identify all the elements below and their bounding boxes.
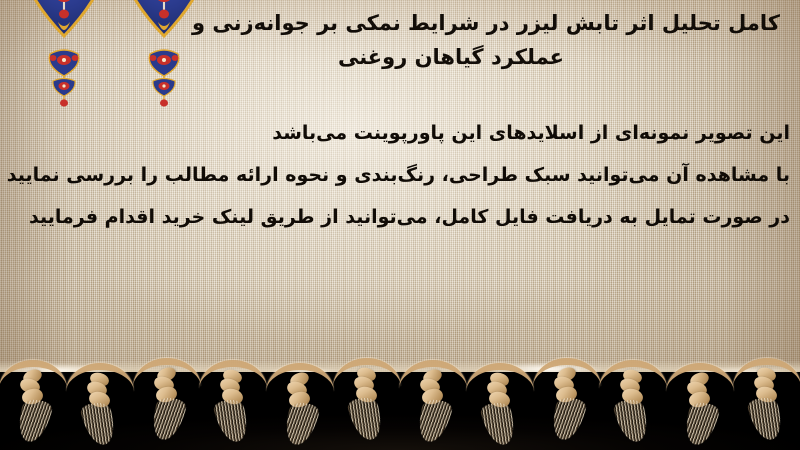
- slide-title: کامل تحلیل اثر تابش لیزر در شرایط نمکی ب…: [186, 6, 786, 74]
- fringe-threads: [681, 401, 721, 446]
- fringe-tassel: [545, 360, 589, 448]
- fringe-tassel: [478, 365, 522, 450]
- fringe-tassel: [278, 365, 322, 450]
- slide-body-text: این تصویر نمونه‌ای از اسلایدهای این پاور…: [8, 112, 790, 238]
- fringe-threads: [14, 398, 54, 443]
- fringe-threads: [148, 396, 188, 441]
- fringe-tassel: [611, 362, 655, 450]
- fringe-threads: [79, 402, 119, 447]
- fringe-tassel: [78, 365, 122, 450]
- fringe-tassel: [211, 362, 255, 450]
- slide-title-line-2: عملکرد گیاهان روغنی: [186, 40, 716, 74]
- fringe-threads: [212, 399, 252, 444]
- persian-pendant-ornament-right: [140, 48, 188, 110]
- slide-title-line-1: کامل تحلیل اثر تابش لیزر در شرایط نمکی ب…: [186, 6, 786, 40]
- carpet-fringe: [0, 362, 800, 450]
- fringe-tassel: [11, 362, 55, 450]
- fringe-threads: [548, 396, 588, 441]
- fringe-threads: [414, 398, 454, 443]
- fringe-tassel: [745, 360, 789, 448]
- persian-pendant-ornament-left: [40, 48, 88, 110]
- fringe-threads: [281, 401, 321, 446]
- fringe-threads: [612, 399, 652, 444]
- fringe-tassel: [411, 362, 455, 450]
- persian-powerpoint-slide: کامل تحلیل اثر تابش لیزر در شرایط نمکی ب…: [0, 0, 800, 450]
- slide-body-line-2: با مشاهده آن می‌توانید سبک طراحی، رنگ‌بن…: [8, 154, 790, 196]
- fringe-threads: [479, 402, 519, 447]
- fringe-tassel: [145, 360, 189, 448]
- slide-body-line-3: در صورت تمایل به دریافت فایل کامل، می‌تو…: [8, 196, 790, 238]
- fringe-tassel: [678, 365, 722, 450]
- fringe-threads: [746, 397, 786, 442]
- slide-body-line-1: این تصویر نمونه‌ای از اسلایدهای این پاور…: [8, 112, 790, 154]
- fringe-tassel: [345, 360, 389, 448]
- fringe-threads: [346, 397, 386, 442]
